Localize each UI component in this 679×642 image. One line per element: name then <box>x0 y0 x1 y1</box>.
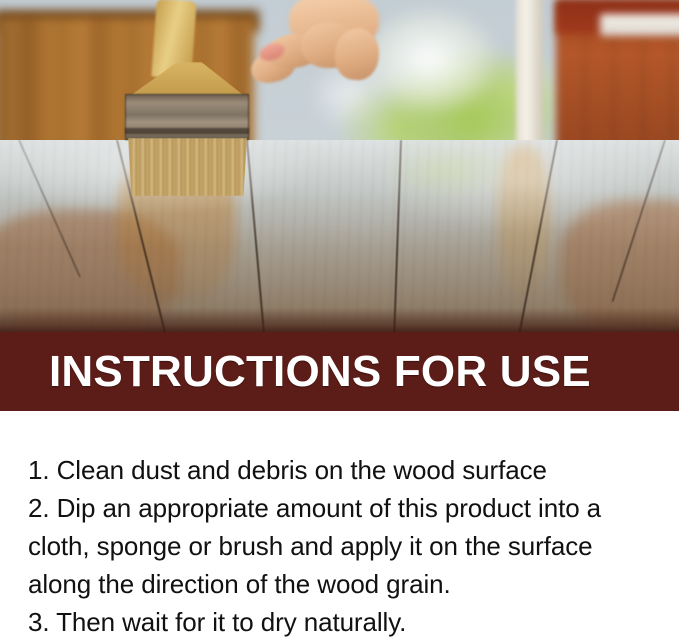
instructions-banner: INSTRUCTIONS FOR USE <box>0 332 679 411</box>
instruction-line: 1. Clean dust and debris on the wood sur… <box>28 451 659 489</box>
deck-wood-grain <box>0 140 679 333</box>
product-usage-photo <box>0 0 679 333</box>
instructions-text-block: 1. Clean dust and debris on the wood sur… <box>0 411 679 642</box>
background-white-ledge <box>600 14 679 36</box>
product-instructions-page: INSTRUCTIONS FOR USE 1. Clean dust and d… <box>0 0 679 642</box>
brush-ferrule-band <box>125 128 249 134</box>
instruction-line: along the direction of the wood grain. <box>28 565 659 603</box>
instruction-line: 2. Dip an appropriate amount of this pro… <box>28 489 659 527</box>
instruction-line: 3. Then wait for it to dry naturally. <box>28 603 659 641</box>
instruction-line: cloth, sponge or brush and apply it on t… <box>28 527 659 565</box>
paint-brush <box>121 56 253 194</box>
hand-holding-brush <box>249 22 381 122</box>
brush-bristles <box>128 138 247 196</box>
page-title: INSTRUCTIONS FOR USE <box>49 350 591 394</box>
brush-neck <box>127 62 247 98</box>
wet-wooden-deck <box>0 140 679 333</box>
photo-bottom-shadow <box>0 307 679 333</box>
